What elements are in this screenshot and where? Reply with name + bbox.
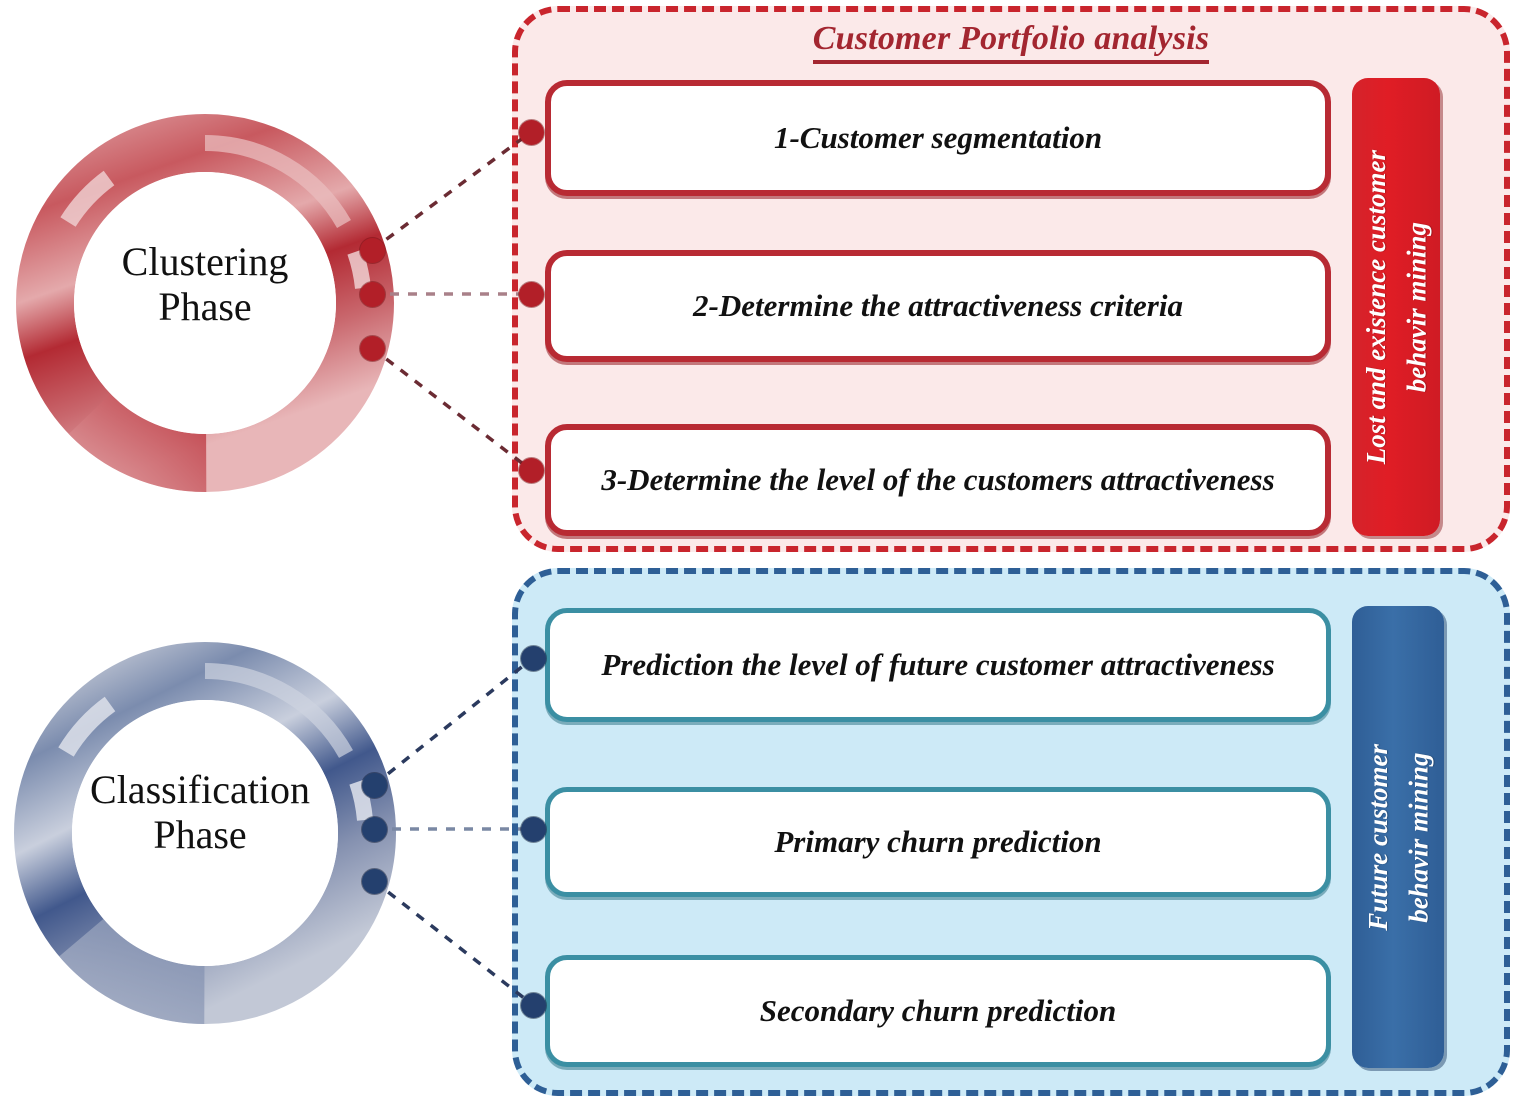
- classification-item-3[interactable]: Secondary churn prediction: [545, 955, 1331, 1067]
- connector-dot-item-6: [521, 993, 546, 1018]
- connector-dot-item-1: [519, 120, 544, 145]
- connector-dot-clustering-b: [360, 282, 385, 307]
- clustering-phase-label-line1: Clustering: [40, 240, 370, 285]
- clustering-item-1-label: 1-Customer segmentation: [774, 119, 1102, 157]
- connector-dot-clustering-c: [360, 336, 385, 361]
- connector-dot-item-5: [521, 817, 546, 842]
- clustering-item-2-label: 2-Determine the attractiveness criteria: [693, 287, 1183, 325]
- connector-dot-item-4: [521, 646, 546, 671]
- classification-side-bar: Future customer behavir mining: [1352, 606, 1444, 1068]
- section-title-text: Customer Portfolio analysis: [813, 20, 1209, 64]
- clustering-side-bar-label: Lost and existence customer behavir mini…: [1356, 150, 1437, 464]
- classification-item-3-label: Secondary churn prediction: [760, 992, 1117, 1030]
- clustering-item-1[interactable]: 1-Customer segmentation: [545, 80, 1331, 196]
- connector-dot-item-2: [519, 282, 544, 307]
- connector-dot-classification-c: [362, 869, 387, 894]
- clustering-side-bar: Lost and existence customer behavir mini…: [1352, 78, 1440, 536]
- connector-red-3: [372, 348, 531, 470]
- connector-blue-1: [374, 658, 533, 785]
- clustering-item-3[interactable]: 3-Determine the level of the customers a…: [545, 424, 1331, 536]
- classification-phase-label: Classification Phase: [20, 768, 380, 858]
- connector-dot-item-3: [519, 458, 544, 483]
- connector-dot-classification-a: [362, 773, 387, 798]
- classification-item-2-label: Primary churn prediction: [774, 823, 1101, 861]
- connector-dot-classification-b: [362, 817, 387, 842]
- connector-blue-3: [374, 881, 533, 1005]
- connector-dot-clustering-a: [360, 238, 385, 263]
- classification-item-1-label: Prediction the level of future customer …: [601, 646, 1274, 684]
- section-title-customer-portfolio-analysis: Customer Portfolio analysis: [512, 20, 1510, 58]
- classification-phase-label-line1: Classification: [20, 768, 380, 813]
- clustering-phase-label-line2: Phase: [40, 285, 370, 330]
- classification-phase-label-line2: Phase: [20, 813, 380, 858]
- connector-red-1: [372, 132, 531, 250]
- classification-item-2[interactable]: Primary churn prediction: [545, 787, 1331, 897]
- clustering-phase-label: Clustering Phase: [40, 240, 370, 330]
- classification-side-bar-label: Future customer behavir mining: [1358, 744, 1439, 931]
- clustering-item-3-label: 3-Determine the level of the customers a…: [601, 461, 1274, 499]
- classification-item-1[interactable]: Prediction the level of future customer …: [545, 608, 1331, 722]
- diagram-canvas: Customer Portfolio analysis 1-Customer s…: [0, 0, 1524, 1102]
- clustering-item-2[interactable]: 2-Determine the attractiveness criteria: [545, 250, 1331, 362]
